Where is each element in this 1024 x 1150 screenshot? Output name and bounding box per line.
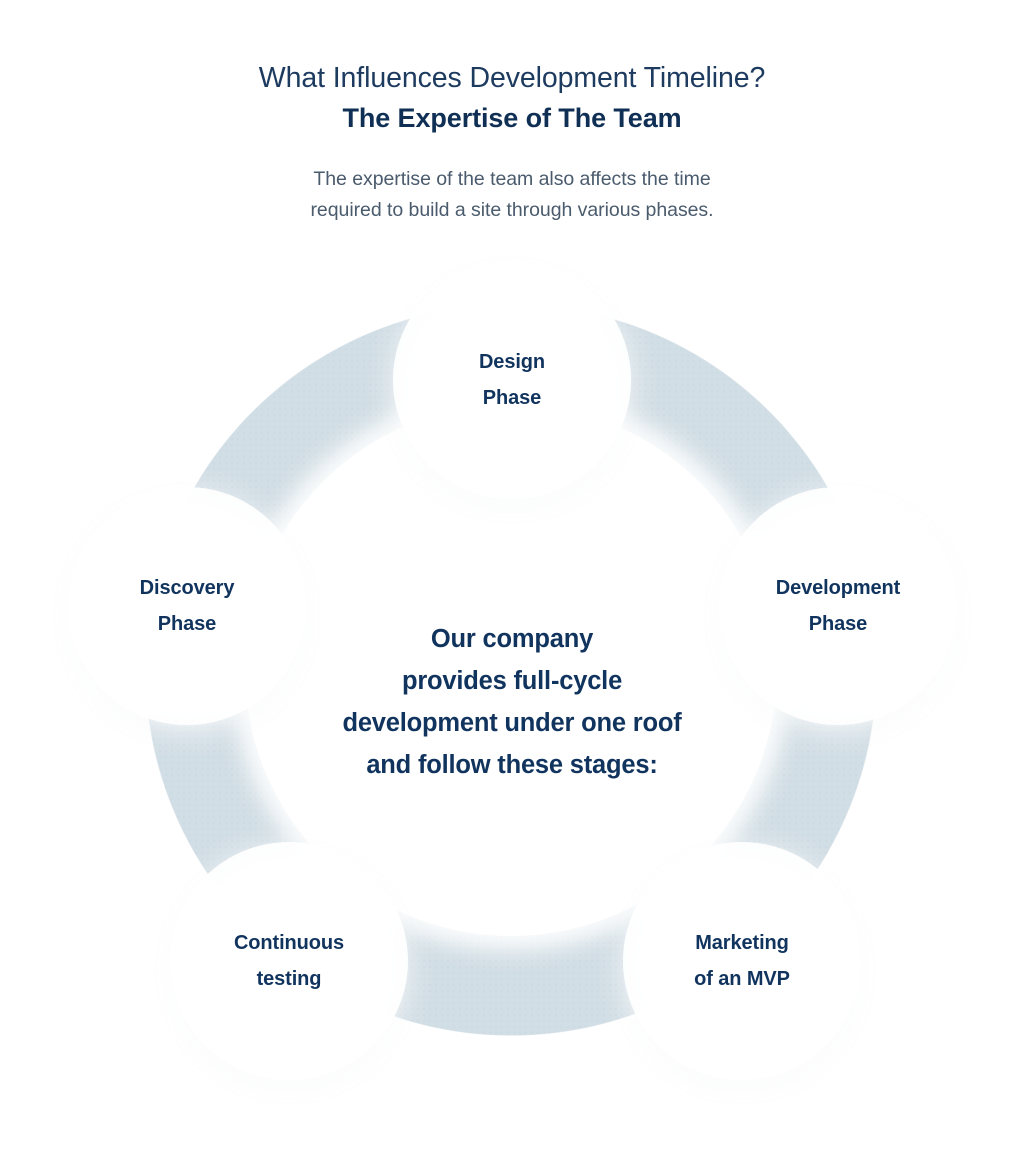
cycle-node-continuous-testing[interactable]: Continuous testing [186, 858, 392, 1064]
cycle-node-design-phase-line-2: Phase [479, 380, 545, 416]
cycle-node-discovery-phase-label: Discovery Phase [140, 570, 235, 642]
cycle-node-continuous-testing-line-1: Continuous [234, 925, 344, 961]
cycle-node-marketing-of-an-mvp-line-2: of an MVP [694, 961, 790, 997]
cycle-node-development-phase[interactable]: Development Phase [735, 503, 941, 709]
cycle-node-discovery-phase-line-2: Phase [140, 606, 235, 642]
cycle-node-discovery-phase-line-1: Discovery [140, 570, 235, 606]
cycle-node-design-phase-label: Design Phase [479, 344, 545, 416]
cycle-diagram: Our company provides full-cycle developm… [0, 0, 1024, 1150]
cycle-center-text: Our company provides full-cycle developm… [262, 618, 762, 786]
cycle-node-design-phase-line-1: Design [479, 344, 545, 380]
cycle-center-text-line-2: provides full-cycle [262, 660, 762, 702]
cycle-center-text-line-4: and follow these stages: [262, 744, 762, 786]
cycle-center-text-line-1: Our company [262, 618, 762, 660]
cycle-node-development-phase-line-1: Development [776, 570, 901, 606]
cycle-node-marketing-of-an-mvp[interactable]: Marketing of an MVP [639, 858, 845, 1064]
cycle-node-development-phase-label: Development Phase [776, 570, 901, 642]
cycle-node-development-phase-line-2: Phase [776, 606, 901, 642]
cycle-node-marketing-of-an-mvp-label: Marketing of an MVP [694, 925, 790, 997]
cycle-node-continuous-testing-line-2: testing [234, 961, 344, 997]
cycle-node-continuous-testing-label: Continuous testing [234, 925, 344, 997]
cycle-node-marketing-of-an-mvp-line-1: Marketing [694, 925, 790, 961]
cycle-node-design-phase[interactable]: Design Phase [409, 277, 615, 483]
cycle-node-discovery-phase[interactable]: Discovery Phase [84, 503, 290, 709]
cycle-center-text-line-3: development under one roof [262, 702, 762, 744]
